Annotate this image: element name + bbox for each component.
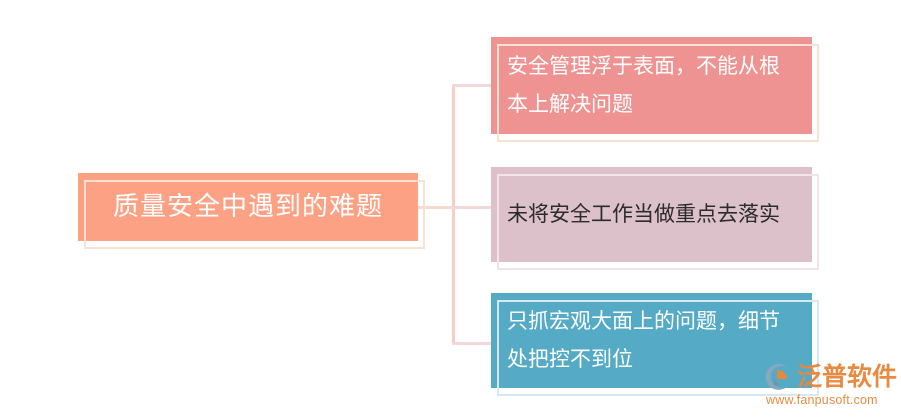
child-node-2[interactable]: 未将安全工作当做重点去落实 xyxy=(491,167,812,262)
child-node-2-label: 未将安全工作当做重点去落实 xyxy=(491,196,812,234)
root-node[interactable]: 质量安全中遇到的难题 xyxy=(78,173,418,241)
connector-branch-0 xyxy=(452,84,491,87)
watermark-url: www.fanpusoft.com xyxy=(764,393,901,407)
watermark: 泛普软件 www.fanpusoft.com xyxy=(764,361,901,411)
fanpu-logo-icon xyxy=(764,362,794,392)
connector-spine xyxy=(452,84,455,345)
child-node-1-label: 安全管理浮于表面，不能从根本上解决问题 xyxy=(491,48,812,124)
watermark-brand-row: 泛普软件 xyxy=(764,361,901,393)
child-node-1[interactable]: 安全管理浮于表面，不能从根本上解决问题 xyxy=(491,37,812,134)
connector-branch-1 xyxy=(452,206,491,209)
connector-branch-2 xyxy=(452,342,491,345)
connector-root-stub xyxy=(418,206,454,209)
root-node-label: 质量安全中遇到的难题 xyxy=(78,191,418,222)
diagram-canvas: 质量安全中遇到的难题 安全管理浮于表面，不能从根本上解决问题 未将安全工作当做重… xyxy=(0,0,901,417)
watermark-brand: 泛普软件 xyxy=(797,362,897,392)
